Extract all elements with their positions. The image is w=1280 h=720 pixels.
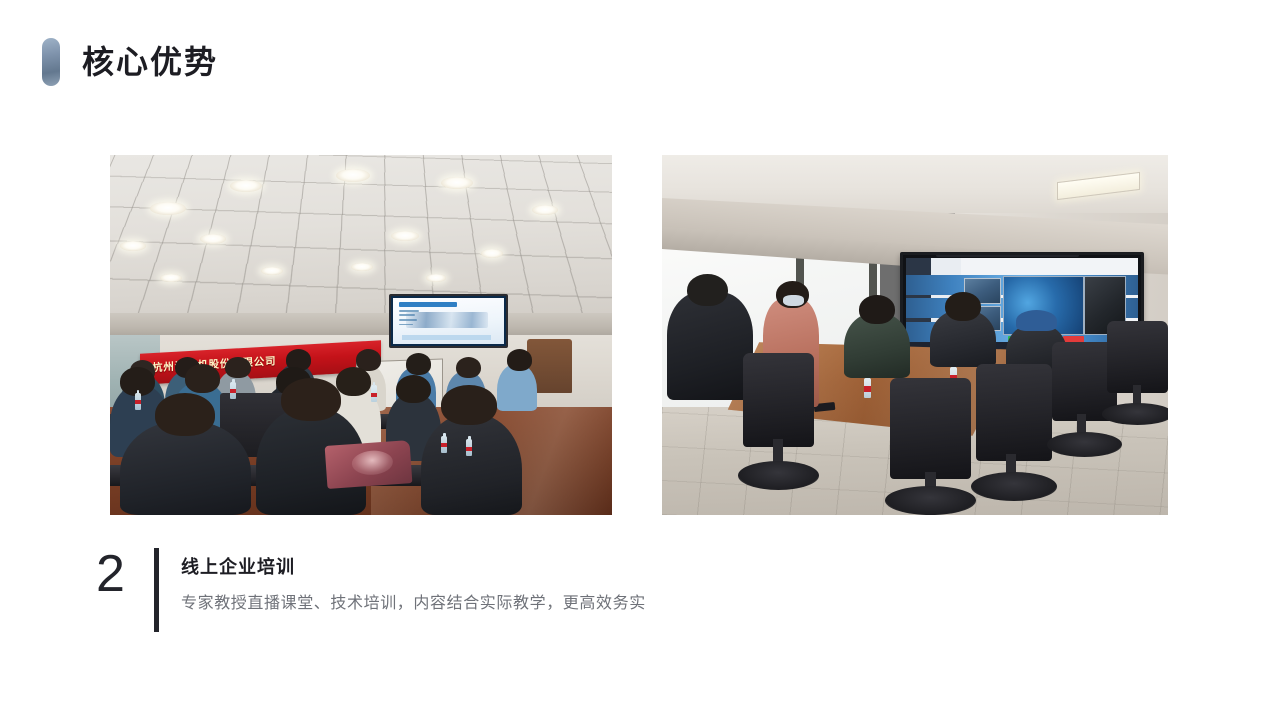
page-title: 核心优势 xyxy=(82,46,218,78)
attendee-head xyxy=(185,364,220,393)
slide-title-row: 核心优势 xyxy=(42,38,218,86)
person-head xyxy=(687,274,727,306)
water-bottle xyxy=(441,436,447,453)
screen-technical-diagram xyxy=(406,312,488,329)
downlight xyxy=(391,231,419,241)
presentation-screen xyxy=(389,294,508,348)
pink-bag-on-desk xyxy=(324,440,412,489)
caption-number: 2 xyxy=(96,548,154,600)
downlight xyxy=(150,202,186,215)
attendee-head xyxy=(406,353,431,375)
caption-description: 专家教授直播课堂、技术培训，内容结合实际教学，更高效务实 xyxy=(181,593,646,615)
downlight xyxy=(261,267,283,275)
caption-body: 线上企业培训 专家教授直播课堂、技术培训，内容结合实际教学，更高效务实 xyxy=(181,548,646,616)
water-bottle xyxy=(230,382,236,399)
attendee-foreground xyxy=(421,414,521,515)
chair-base xyxy=(738,461,819,490)
presenter-head xyxy=(507,349,532,371)
attendee-head xyxy=(441,385,496,425)
screen-footer-bar xyxy=(402,335,491,341)
attendee-head xyxy=(225,357,250,379)
water-bottle xyxy=(466,439,472,456)
office-chair xyxy=(890,378,971,479)
screen-title-bar xyxy=(399,302,457,307)
attendee-head xyxy=(456,357,481,379)
downlight xyxy=(481,249,503,258)
slide-root: 核心优势 杭州汽轮机股份有限公司 xyxy=(0,0,1280,720)
office-chair xyxy=(976,364,1052,461)
water-bottle xyxy=(371,385,377,402)
attendee-head xyxy=(336,367,371,396)
standing-person-dark-jacket xyxy=(667,292,753,400)
online-meeting-photo xyxy=(662,155,1168,515)
face-mask-icon xyxy=(783,295,803,306)
chair-base xyxy=(1102,403,1168,425)
blue-cap-icon xyxy=(1016,310,1056,332)
attendee-head xyxy=(155,393,215,436)
downlight xyxy=(441,177,473,189)
attendee-head xyxy=(396,375,431,404)
screen-content xyxy=(393,298,504,344)
person-head xyxy=(945,292,980,321)
attendee-head xyxy=(281,378,341,421)
person-head xyxy=(859,295,894,324)
chair-base xyxy=(885,486,976,515)
office-chair xyxy=(743,353,814,447)
water-bottle xyxy=(135,393,141,410)
caption-heading: 线上企业培训 xyxy=(181,556,646,579)
caption-divider xyxy=(154,548,159,632)
downlight xyxy=(426,274,446,282)
rounded-pill-bullet-icon xyxy=(42,38,60,86)
classroom-training-photo: 杭州汽轮机股份有限公司 xyxy=(110,155,612,515)
chair-base xyxy=(971,472,1057,501)
display-camera-bar xyxy=(936,252,1079,257)
water-bottle xyxy=(864,378,871,398)
caption-block: 2 线上企业培训 专家教授直播课堂、技术培训，内容结合实际教学，更高效务实 xyxy=(96,548,646,632)
office-chair xyxy=(1107,321,1168,393)
downlight xyxy=(160,274,182,282)
downlight xyxy=(351,263,373,271)
